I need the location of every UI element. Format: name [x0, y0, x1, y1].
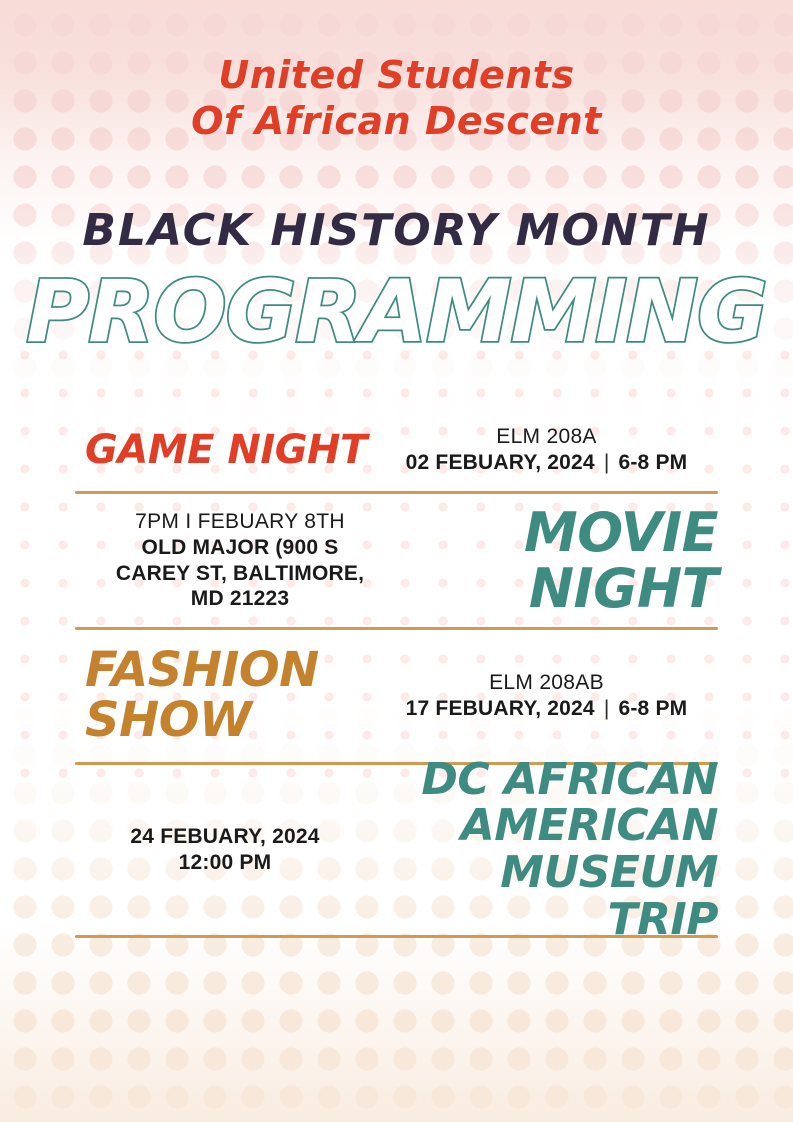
event-title-line-1: MOVIE — [405, 505, 718, 560]
poster-content: United Students Of African Descent BLACK… — [0, 0, 793, 1122]
poster-canvas: United Students Of African Descent BLACK… — [0, 0, 793, 1122]
organization-name-line-2: Of African Descent — [0, 98, 793, 144]
event-time: 6-8 PM — [618, 697, 687, 720]
event-details-museum-trip: 24 FEBUARY, 2024 12:00 PM — [75, 824, 375, 875]
event-location: ELM 208AB — [375, 670, 718, 696]
separator-icon: | — [595, 450, 619, 476]
event-row: FASHION SHOW ELM 208AB 17 FEBUARY, 2024|… — [75, 630, 718, 762]
event-details-fashion-show: ELM 208AB 17 FEBUARY, 2024|6-8 PM — [375, 670, 718, 721]
event-row: 7PM I FEBUARY 8TH OLD MAJOR (900 S CAREY… — [75, 494, 718, 627]
event-date-time: 02 FEBUARY, 2024|6-8 PM — [375, 450, 718, 476]
event-date: 02 FEBUARY, 2024 — [406, 451, 595, 474]
event-title-movie-night: MOVIE NIGHT — [405, 505, 718, 615]
event-address-line-1: OLD MAJOR (900 S — [75, 535, 405, 561]
event-details-game-night: ELM 208A 02 FEBUARY, 2024|6-8 PM — [375, 424, 718, 475]
separator-icon: | — [595, 696, 619, 722]
organization-name-line-1: United Students — [0, 52, 793, 98]
event-location: ELM 208A — [375, 424, 718, 450]
event-title-line-2: AMERICAN — [375, 803, 718, 850]
event-date-time: 17 FEBUARY, 2024|6-8 PM — [375, 696, 718, 722]
event-time: 6-8 PM — [618, 451, 687, 474]
page-title: BLACK HISTORY MONTH — [0, 205, 793, 256]
event-row: 24 FEBUARY, 2024 12:00 PM DC AFRICAN AME… — [75, 765, 718, 935]
event-date: 24 FEBUARY, 2024 — [75, 824, 375, 850]
event-address-line-2: CAREY ST, BALTIMORE, — [75, 561, 405, 587]
event-title-line-2: SHOW — [85, 696, 375, 746]
event-title-museum-trip: DC AFRICAN AMERICAN MUSEUM TRIP — [375, 757, 718, 944]
event-time: 12:00 PM — [75, 850, 375, 876]
event-list: GAME NIGHT ELM 208A 02 FEBUARY, 2024|6-8… — [75, 408, 718, 938]
event-address-line-3: MD 21223 — [75, 586, 405, 612]
page-subtitle: PROGRAMMING — [0, 262, 793, 362]
event-title-line-1: DC AFRICAN — [375, 757, 718, 804]
organization-name: United Students Of African Descent — [0, 52, 793, 145]
event-row: GAME NIGHT ELM 208A 02 FEBUARY, 2024|6-8… — [75, 408, 718, 491]
event-when: 7PM I FEBUARY 8TH — [75, 509, 405, 535]
event-title-game-night: GAME NIGHT — [75, 430, 375, 470]
event-details-movie-night: 7PM I FEBUARY 8TH OLD MAJOR (900 S CAREY… — [75, 509, 405, 611]
event-title-line-1: FASHION — [85, 646, 375, 696]
event-title-fashion-show: FASHION SHOW — [75, 646, 375, 746]
event-title-line-3: MUSEUM TRIP — [375, 850, 718, 943]
event-title-line-2: NIGHT — [405, 561, 718, 616]
event-date: 17 FEBUARY, 2024 — [406, 697, 595, 720]
